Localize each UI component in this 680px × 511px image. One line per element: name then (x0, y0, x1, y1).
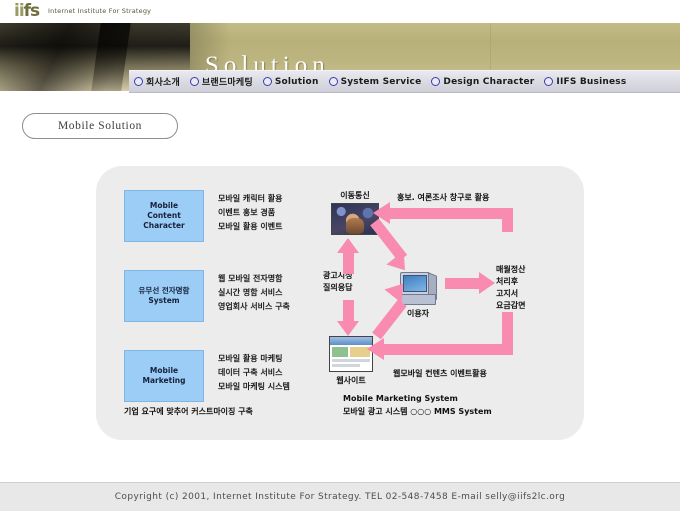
box-line: Content (147, 211, 181, 220)
arrow-top-right-elbow (502, 208, 513, 232)
nav-item-4[interactable]: Design Character (426, 77, 539, 87)
solution-list: Mobile Content Character 모바일 캐릭터 활용 이벤트 … (96, 166, 311, 440)
solution-box-label: 유무선 전자명함 System (139, 286, 190, 306)
solution-box-2[interactable]: Mobile Marketing (124, 350, 204, 402)
nav-item-label: 회사소개 (146, 75, 180, 88)
arrow-left-up-head (337, 238, 359, 253)
nav-item-2[interactable]: Solution (258, 77, 324, 87)
annotation-bottom: 웹모바일 컨텐츠 이벤트활용 (393, 368, 487, 380)
solution-box-label: Mobile Content Character (143, 201, 184, 231)
solution-bullets-2: 모바일 활용 마케팅 데이터 구축 서비스 모바일 마케팅 시스템 (218, 352, 290, 394)
nav-item-label: Design Character (443, 77, 534, 87)
arrow-left-down-bar (343, 300, 354, 322)
solution-box-label: Mobile Marketing (143, 366, 186, 386)
system-note-line1: Mobile Marketing System (343, 392, 492, 405)
solution-bullets-0: 모바일 캐릭터 활용 이벤트 홍보 경품 모바일 활용 이벤트 (218, 192, 282, 234)
bullet-circle-icon (431, 77, 440, 86)
annotation-line: 고지서 (496, 288, 525, 300)
bullet-text: 모바일 마케팅 시스템 (218, 380, 290, 394)
logo-bar: iifs Internet Institute For Strategy (0, 0, 680, 24)
page-root: iifs Internet Institute For Strategy Sol… (0, 0, 680, 510)
box-line: Character (143, 221, 184, 230)
annotation-line: 매월정산 (496, 264, 525, 276)
nav-item-label: IIFS Business (556, 77, 626, 87)
bullet-text: 모바일 활용 마케팅 (218, 352, 290, 366)
solution-box-0[interactable]: Mobile Content Character (124, 190, 204, 242)
bullet-text: 웹 모바일 전자명함 (218, 272, 290, 286)
arrow-right-bar (445, 278, 481, 289)
bullet-text: 영업회사 서비스 구축 (218, 300, 290, 314)
system-note: Mobile Marketing System 모바일 광고 시스템 ○○○ M… (343, 392, 492, 418)
bullet-circle-icon (190, 77, 199, 86)
arrow-bottom-right-elbow (502, 312, 513, 355)
page-footer: Copyright (c) 2001, Internet Institute F… (0, 482, 680, 511)
logo-tagline: Internet Institute For Strategy (48, 7, 151, 15)
annotation-top: 홍보. 여론조사 창구로 활용 (397, 192, 489, 204)
arrow-left-down-head (337, 321, 359, 336)
nav-item-1[interactable]: 브랜드마케팅 (185, 75, 258, 88)
node-label: 웹사이트 (329, 375, 373, 386)
nav-item-label: Solution (275, 77, 319, 87)
nav-item-3[interactable]: System Service (324, 77, 427, 87)
nav-item-5[interactable]: IIFS Business (539, 77, 631, 87)
arrow-bottom-bar (383, 344, 513, 355)
system-note-line2: 모바일 광고 시스템 ○○○ MMS System (343, 405, 492, 418)
left-footer-note: 기업 요구에 맞추어 커스트마이징 구축 (124, 406, 253, 417)
annotation-line: 요금감면 (496, 300, 525, 312)
bullet-circle-icon (544, 77, 553, 86)
bullet-text: 데이터 구축 서비스 (218, 366, 290, 380)
page-tab-label: Mobile Solution (58, 120, 142, 132)
bullet-circle-icon (134, 77, 143, 86)
page-tab-mobile-solution[interactable]: Mobile Solution (22, 113, 178, 139)
content-panel: Mobile Content Character 모바일 캐릭터 활용 이벤트 … (96, 166, 584, 440)
mobile-carrier-photo-icon (331, 203, 379, 235)
bullet-circle-icon (263, 77, 272, 86)
bullet-text: 모바일 활용 이벤트 (218, 220, 282, 234)
nav-item-label: System Service (341, 77, 422, 87)
arrow-left-up-bar (343, 252, 354, 274)
box-line: 유무선 전자명함 (139, 286, 190, 295)
nav-item-label: 브랜드마케팅 (202, 75, 253, 88)
annotation-right: 매월정산 처리후 고지서 요금감면 (496, 264, 525, 312)
nav-item-0[interactable]: 회사소개 (129, 75, 185, 88)
solution-box-1[interactable]: 유무선 전자명함 System (124, 270, 204, 322)
arrow-diagonal2-bar (372, 300, 407, 340)
box-line: Marketing (143, 376, 186, 385)
bullet-text: 이벤트 홍보 경품 (218, 206, 282, 220)
annotation-line: 처리후 (496, 276, 525, 288)
solution-bullets-1: 웹 모바일 전자명함 실시간 명함 서비스 영업회사 서비스 구축 (218, 272, 290, 314)
flow-diagram: 홍보. 여론조사 창구로 활용 이동통신 이용자 웹사이트 (311, 166, 584, 440)
arrow-top-bar (389, 208, 513, 219)
box-line: System (148, 296, 179, 305)
annotation-line: 질의응답 (323, 282, 352, 294)
bullet-circle-icon (329, 77, 338, 86)
box-line: Mobile (150, 201, 178, 210)
main-navigation[interactable]: 회사소개 브랜드마케팅 Solution System Service Desi… (129, 70, 680, 93)
site-logo[interactable]: iifs (14, 2, 39, 21)
copyright-text: Copyright (c) 2001, Internet Institute F… (115, 492, 566, 502)
arrow-bottom-head (367, 338, 384, 360)
node-label: 이동통신 (331, 190, 379, 201)
bullet-text: 실시간 명함 서비스 (218, 286, 290, 300)
arrow-right-head (479, 272, 495, 294)
bullet-text: 모바일 캐릭터 활용 (218, 192, 282, 206)
box-line: Mobile (150, 366, 178, 375)
